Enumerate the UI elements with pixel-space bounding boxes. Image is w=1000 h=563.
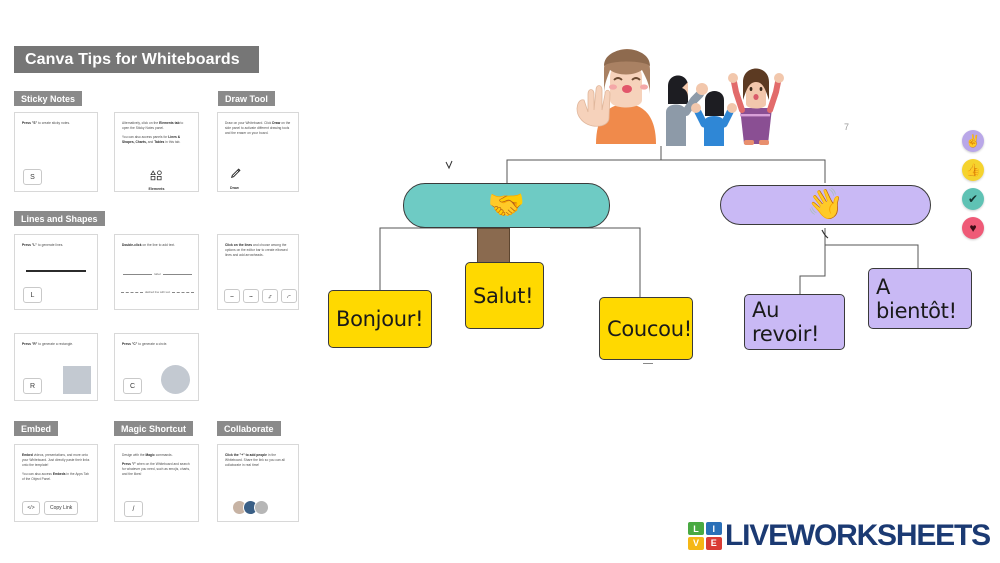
line-sample [26, 270, 86, 272]
branch-node-greetings[interactable]: 🤝 [403, 183, 610, 228]
page-title: Canva Tips for Whiteboards [14, 46, 259, 73]
whiteboard-canvas: 7 🤝 Bonjour! Salut! Coucou! 👋 Au revoir!… [320, 0, 1000, 563]
waving-hand-emoji: 👋 [807, 190, 844, 220]
thumbs-up-reaction[interactable]: 👍 [962, 159, 984, 181]
heart-reaction[interactable]: ♥ [962, 217, 984, 239]
tip-text-bold: Magic [145, 453, 154, 457]
tip-text-bold: Embeds [53, 472, 66, 476]
tip-text-bold: Click on the lines [225, 243, 252, 247]
tip-text-bold: Press "L" [22, 243, 37, 247]
pencil-icon [230, 167, 241, 184]
tip-card-magic-shortcut: Design with the Magic commands. Press "/… [114, 444, 199, 522]
tip-card-rectangle: Press "R" to generate a rectangle. R [14, 333, 98, 401]
tip-text: You can also access panels for [122, 135, 168, 139]
curved-line-option-icon[interactable] [281, 289, 297, 303]
tip-text: Draw on your Whiteboard. Click [225, 121, 272, 125]
tip-card-elements-tab: Alternatively, click on the Elements tab… [114, 112, 199, 192]
peace-sign-icon: ✌ [966, 135, 981, 147]
tip-card-circle: Press "C" to generate a circle. C [114, 333, 199, 401]
section-header-lines-shapes: Lines and Shapes [14, 211, 105, 226]
copy-link-button[interactable]: Copy Link [44, 501, 78, 515]
keycap-c: C [123, 378, 142, 394]
tip-text-bold: Press "C" [122, 342, 137, 346]
reaction-toolbar[interactable]: ✌ 👍 ✔ ♥ [962, 130, 988, 246]
tip-card-collaborate: Click the "+" to add people in the White… [217, 444, 299, 522]
logo-cell-v: V [688, 537, 704, 550]
section-header-magic-shortcut: Magic Shortcut [114, 421, 193, 436]
section-header-embed: Embed [14, 421, 58, 436]
draw-icon-label: Draw [230, 186, 241, 190]
sticky-note-bonjour[interactable]: Bonjour! [328, 290, 432, 348]
tip-text: to generate a circle. [137, 342, 167, 346]
tip-text: to create sticky notes. [37, 121, 70, 125]
peace-sign-reaction[interactable]: ✌ [962, 130, 984, 152]
brown-connector-box[interactable] [477, 228, 510, 264]
sticky-note-text: Coucou! [607, 317, 692, 341]
tip-text: You can also access [22, 472, 53, 476]
check-reaction[interactable]: ✔ [962, 188, 984, 210]
tip-text-bold: Double-click [122, 243, 142, 247]
keycap-s: S [23, 169, 42, 185]
sticky-note-au-revoir[interactable]: Au revoir! [744, 294, 845, 350]
sticky-note-text: Bonjour! [336, 307, 423, 331]
tip-text-bold: Press "R" [22, 342, 37, 346]
keycap-l: L [23, 287, 42, 303]
straight-line-option-icon[interactable] [224, 289, 240, 303]
tip-text-bold: Elements tab [159, 121, 179, 125]
dashed-line-label-sample: dashed line with text [143, 290, 172, 294]
tip-text: Design with the [122, 453, 145, 457]
liveworksheets-wordmark: LIVEWORKSHEETS [725, 519, 990, 553]
arrow-line-option-icon[interactable] [243, 289, 259, 303]
tip-card-line-text: Double-click on the line to add text. la… [114, 234, 199, 310]
circle-swatch [161, 365, 190, 394]
sticky-note-salut[interactable]: Salut! [465, 262, 544, 329]
canva-tips-panel: Canva Tips for Whiteboards Sticky Notes … [0, 0, 320, 563]
sticky-note-a-bientot[interactable]: A bientôt! [868, 268, 972, 329]
embed-code-button[interactable]: </> [22, 501, 40, 515]
tip-text: to generate a rectangle. [37, 342, 73, 346]
sticky-note-text: Salut! [473, 284, 533, 308]
collaborator-avatars [232, 500, 265, 515]
tip-text-bold: Click the "+" to add people [225, 453, 267, 457]
sticky-note-text: Au revoir! [752, 298, 844, 346]
tip-text: Alternatively, click on the [122, 121, 159, 125]
avatar [254, 500, 269, 515]
tip-text-bold: Tables [154, 140, 164, 144]
tip-card-line-options: Click on the lines and choose among the … [217, 234, 299, 310]
liveworksheets-logo: L I V E LIVEWORKSHEETS [688, 519, 990, 553]
liveworksheets-logo-mark: L I V E [688, 522, 722, 550]
stray-dash [643, 363, 653, 364]
keycap-r: R [23, 378, 42, 394]
section-header-collaborate: Collaborate [217, 421, 281, 436]
tip-text-bold: Embed [22, 453, 33, 457]
keycap-slash: / [124, 501, 143, 517]
tip-text-bold: Press "/" [122, 462, 136, 466]
check-icon: ✔ [968, 193, 978, 205]
logo-cell-e: E [706, 537, 722, 550]
thumbs-up-icon: 👍 [966, 164, 981, 176]
tip-text: in this tab. [164, 140, 180, 144]
section-header-sticky-notes: Sticky Notes [14, 91, 82, 106]
branch-node-farewells[interactable]: 👋 [720, 185, 931, 225]
elements-icon [150, 168, 163, 185]
tip-card-sticky-press: Press "S" to create sticky notes. S [14, 112, 98, 192]
tip-text: on the line to add text. [142, 243, 176, 247]
sticky-note-text: A bientôt! [876, 275, 971, 323]
section-header-draw-tool: Draw Tool [218, 91, 275, 106]
rectangle-swatch [63, 366, 91, 394]
elbow-line-option-icon[interactable] [262, 289, 278, 303]
tip-card-draw-tool: Draw on your Whiteboard. Click Draw on t… [217, 112, 299, 192]
tip-text: videos, presentations, and more onto you… [22, 453, 89, 467]
elements-icon-label: Elements [149, 187, 165, 191]
heart-icon: ♥ [969, 222, 976, 234]
logo-cell-i: I [706, 522, 722, 535]
tip-text: to generate lines. [37, 243, 63, 247]
tip-card-embed: Embed videos, presentations, and more on… [14, 444, 98, 522]
stray-mark: 7 [844, 122, 849, 132]
tip-card-lines-press: Press "L" to generate lines. L [14, 234, 98, 310]
sticky-note-coucou[interactable]: Coucou! [599, 297, 693, 360]
tip-text-bold: Press "S" [22, 121, 37, 125]
line-label-sample: label [152, 272, 162, 276]
handshake-emoji: 🤝 [488, 191, 525, 221]
logo-cell-l: L [688, 522, 704, 535]
tip-text: commands. [155, 453, 173, 457]
